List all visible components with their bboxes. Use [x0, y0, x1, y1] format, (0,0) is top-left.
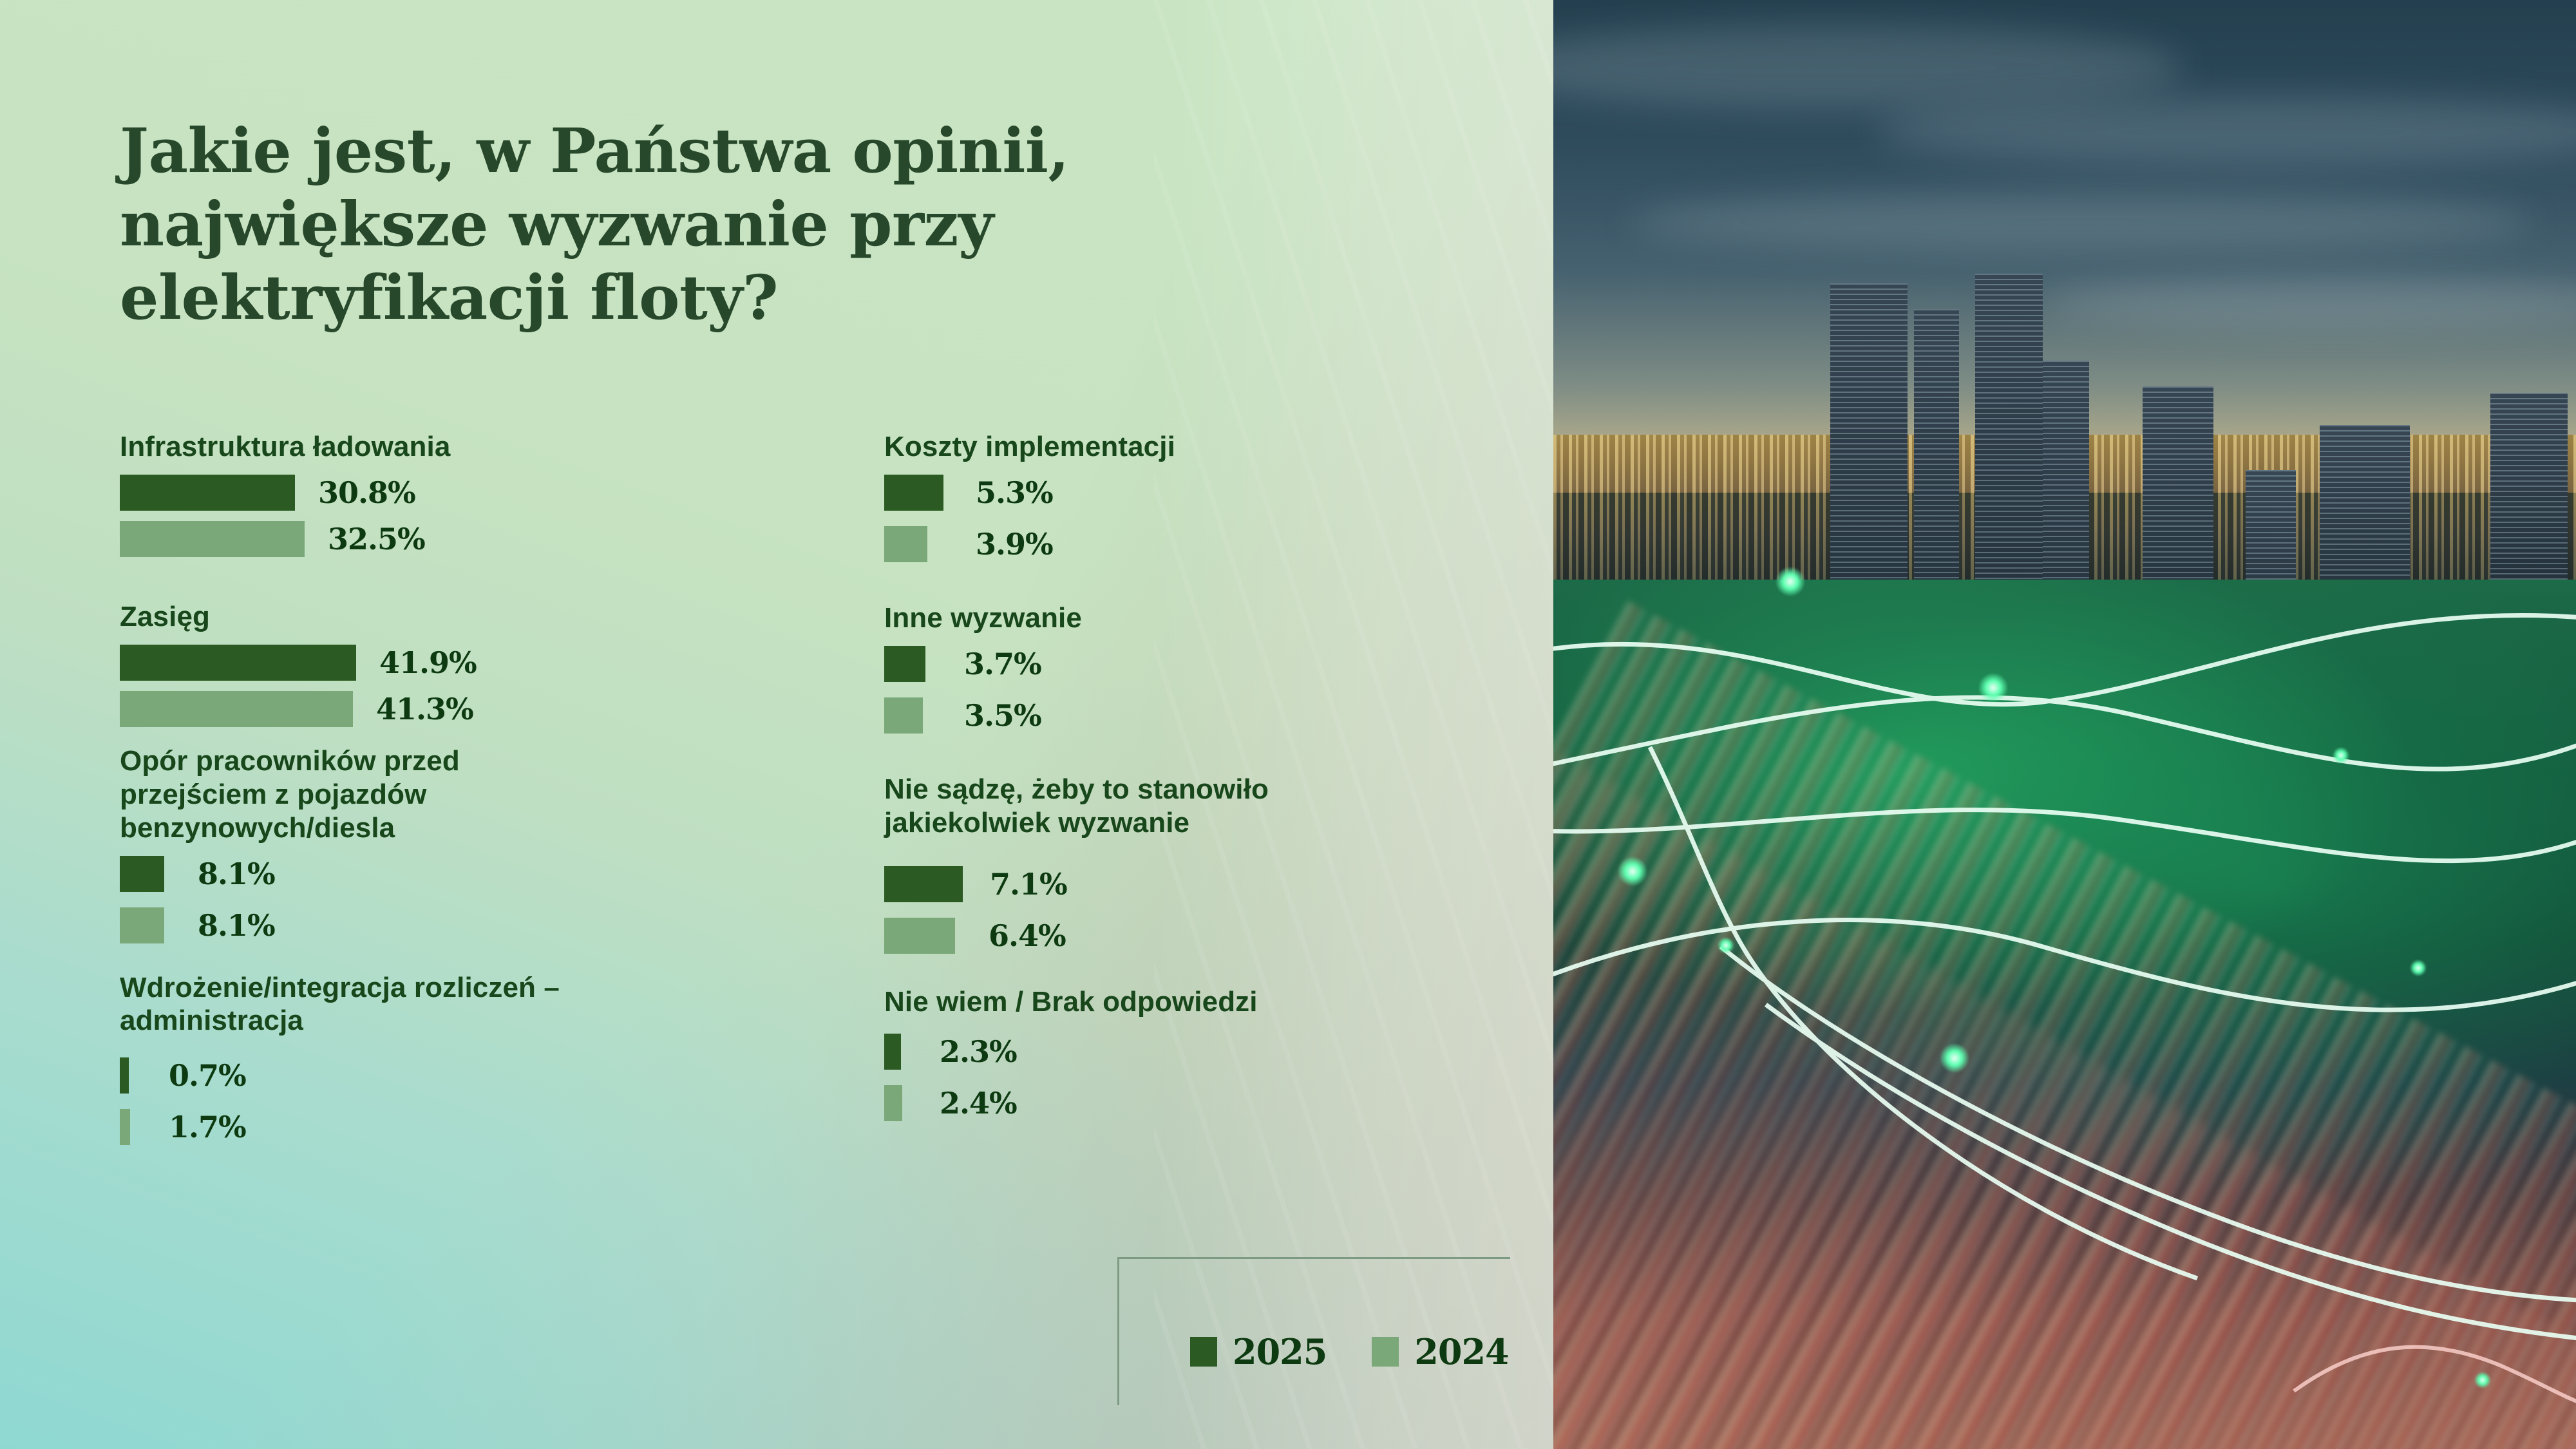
bar-row: 8.1% [120, 907, 841, 944]
category-label: Infrastruktura ładowania [120, 430, 841, 464]
bar-value: 2.4% [940, 1086, 1017, 1121]
bar-2025 [120, 475, 295, 511]
bar-value: 0.7% [169, 1058, 246, 1093]
bar-value: 41.9% [379, 645, 477, 680]
bar-row: 3.5% [884, 697, 1528, 734]
bar-2024 [120, 1109, 130, 1145]
bar-value: 8.1% [198, 908, 275, 943]
bar-value: 1.7% [169, 1110, 246, 1144]
category-label: Opór pracowników przed przejściem z poja… [120, 744, 841, 845]
chart-legend: 2025 2024 [1117, 1257, 1510, 1405]
bar-2024 [120, 691, 353, 727]
network-node [2410, 960, 2427, 976]
cityscape-photo: ALPHABET [1553, 0, 2576, 1449]
bar-value: 8.1% [198, 857, 275, 891]
bar-2024 [120, 907, 164, 943]
chart-group: Zasięg 41.9% 41.3% [120, 600, 841, 728]
legend-swatch-2025 [1190, 1337, 1217, 1367]
chart-group: Opór pracowników przed przejściem z poja… [120, 744, 841, 944]
network-node [1618, 857, 1647, 886]
bar-value: 7.1% [990, 867, 1067, 902]
bar-2025 [120, 645, 356, 681]
bar-2024 [884, 918, 955, 954]
bar-row: 41.3% [120, 690, 841, 728]
bar-row: 0.7% [120, 1057, 841, 1094]
bar-row: 6.4% [884, 917, 1528, 954]
bar-row: 1.7% [120, 1108, 841, 1146]
page-title: Jakie jest, w Państwa opinii, największe… [120, 115, 1343, 335]
bar-row: 41.9% [120, 644, 841, 681]
bar-row: 3.7% [884, 645, 1528, 683]
chart-group: Infrastruktura ładowania 30.8% 32.5% [120, 430, 841, 558]
chart-group: Koszty implementacji 5.3% 3.9% [884, 430, 1528, 563]
bar-value: 3.5% [964, 698, 1041, 733]
bar-row: 32.5% [120, 520, 841, 558]
bar-2024 [884, 1085, 902, 1121]
bar-value: 32.5% [328, 522, 425, 556]
chart-panel: Jakie jest, w Państwa opinii, największe… [0, 0, 1553, 1449]
bar-row: 3.9% [884, 526, 1528, 563]
category-label: Nie sądzę, żeby to stanowiło jakiekolwie… [884, 773, 1528, 840]
chart-group: Nie wiem / Brak odpowiedzi 2.3% 2.4% [884, 985, 1528, 1122]
bar-row: 8.1% [120, 855, 841, 893]
network-node [2333, 747, 2349, 764]
bar-row: 30.8% [120, 474, 841, 511]
chart-group: Wdrożenie/integracja rozliczeń – adminis… [120, 971, 841, 1146]
bar-row: 7.1% [884, 866, 1528, 903]
bar-2025 [120, 856, 164, 892]
chart-group: Inne wyzwanie 3.7% 3.5% [884, 601, 1528, 734]
network-node [2474, 1372, 2491, 1388]
network-node [1978, 673, 2008, 703]
category-label: Nie wiem / Brak odpowiedzi [884, 985, 1528, 1019]
bar-row: 2.4% [884, 1084, 1528, 1122]
bar-2024 [120, 521, 305, 557]
bar-value: 3.7% [964, 647, 1041, 681]
legend-swatch-2024 [1372, 1337, 1399, 1367]
network-node [1718, 937, 1734, 954]
bar-row: 2.3% [884, 1033, 1528, 1070]
legend-label-2024: 2024 [1414, 1331, 1508, 1372]
bar-value: 3.9% [976, 527, 1053, 562]
bar-2025 [884, 475, 943, 511]
legend-label-2025: 2025 [1233, 1331, 1327, 1372]
bar-value: 30.8% [318, 475, 415, 510]
network-node [1776, 567, 1805, 596]
network-lines-overlay [1553, 0, 2576, 1449]
bar-2025 [884, 1034, 901, 1070]
bar-2024 [884, 526, 927, 562]
bar-2025 [884, 866, 963, 902]
bar-value: 41.3% [376, 692, 473, 726]
category-label: Koszty implementacji [884, 430, 1528, 464]
bar-2025 [120, 1057, 129, 1094]
bar-2024 [884, 697, 923, 734]
category-label: Wdrożenie/integracja rozliczeń – adminis… [120, 971, 841, 1038]
legend-item-2025[interactable]: 2025 [1190, 1331, 1327, 1372]
legend-item-2024[interactable]: 2024 [1372, 1331, 1508, 1372]
bar-value: 5.3% [976, 475, 1053, 510]
network-node [1940, 1043, 1969, 1073]
category-label: Zasięg [120, 600, 841, 634]
bar-2025 [884, 646, 925, 682]
bar-value: 2.3% [940, 1034, 1017, 1069]
chart-group: Nie sądzę, żeby to stanowiło jakiekolwie… [884, 773, 1528, 954]
bar-row: 5.3% [884, 474, 1528, 511]
chart-column-right: Koszty implementacji 5.3% 3.9% Inne wyzw… [884, 430, 1528, 1131]
chart-column-left: Infrastruktura ładowania 30.8% 32.5% Zas… [120, 430, 841, 1155]
bar-value: 6.4% [989, 918, 1066, 953]
category-label: Inne wyzwanie [884, 601, 1528, 635]
